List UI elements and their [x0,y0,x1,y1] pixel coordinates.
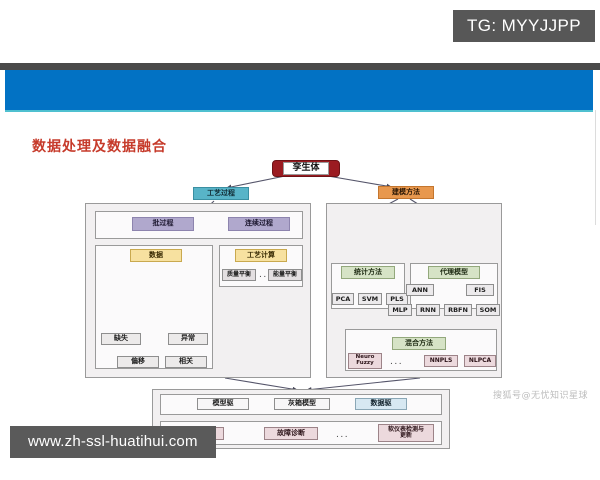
node-ann[interactable]: ANN [406,284,434,296]
node-statistical-methods[interactable]: 统计方法 [341,266,395,279]
node-grey-box-model[interactable]: 灰箱模型 [274,398,330,410]
node-continuous-process[interactable]: 连续过程 [228,217,290,231]
node-nnpls[interactable]: NNPLS [424,355,458,367]
node-data-abnormal[interactable]: 异常 [168,333,208,345]
node-modeling-branch[interactable]: 建模方法 [378,186,434,199]
node-mlp[interactable]: MLP [388,304,412,316]
hybrid-ellipsis: ... [390,357,403,367]
node-som[interactable]: SOM [476,304,500,316]
node-rbfn[interactable]: RBFN [444,304,472,316]
node-fault-diagnosis[interactable]: 故障诊断 [264,427,318,440]
node-data-driven[interactable]: 数据驱 [355,398,407,410]
group-data [95,245,213,369]
diagram-canvas: 孪生体 工艺过程 建模方法 批过程 连续过程 数据 缺失 异常 偏移 相关 工艺… [0,63,600,433]
node-rnn[interactable]: RNN [416,304,440,316]
node-soft-sensor-update[interactable]: 软仪表检测与 更新 [378,424,434,442]
node-batch-process[interactable]: 批过程 [132,217,194,231]
node-surrogate-model[interactable]: 代理模型 [428,266,480,279]
node-mass-balance[interactable]: 质量平衡 [222,269,256,281]
node-pca[interactable]: PCA [332,293,354,305]
node-root[interactable]: 孪生体 [272,160,340,177]
node-hybrid-methods[interactable]: 混合方法 [392,337,446,350]
tg-badge: TG: MYYJJPP [453,10,595,42]
node-data[interactable]: 数据 [130,249,182,262]
node-data-drift[interactable]: 偏移 [117,356,159,368]
node-neuro-fuzzy[interactable]: Neuro Fuzzy [348,353,382,369]
node-fis[interactable]: FIS [466,284,494,296]
watermark: 搜狐号@无忧知识星球 [493,388,588,401]
node-process-calculation[interactable]: 工艺计算 [235,249,287,262]
application-ellipsis: ... [336,430,349,440]
node-data-missing[interactable]: 缺失 [101,333,141,345]
slide-frame: 数据处理及数据融合 [0,63,600,433]
node-process-branch[interactable]: 工艺过程 [193,187,249,200]
node-root-label: 孪生体 [283,162,328,175]
node-svm[interactable]: SVM [358,293,382,305]
url-bar: www.zh-ssl-huatihui.com [10,426,216,458]
node-model-driven[interactable]: 模型驱 [197,398,249,410]
node-data-correlation[interactable]: 相关 [165,356,207,368]
node-energy-balance[interactable]: 能量平衡 [268,269,302,281]
node-nlpca[interactable]: NLPCA [464,355,496,367]
